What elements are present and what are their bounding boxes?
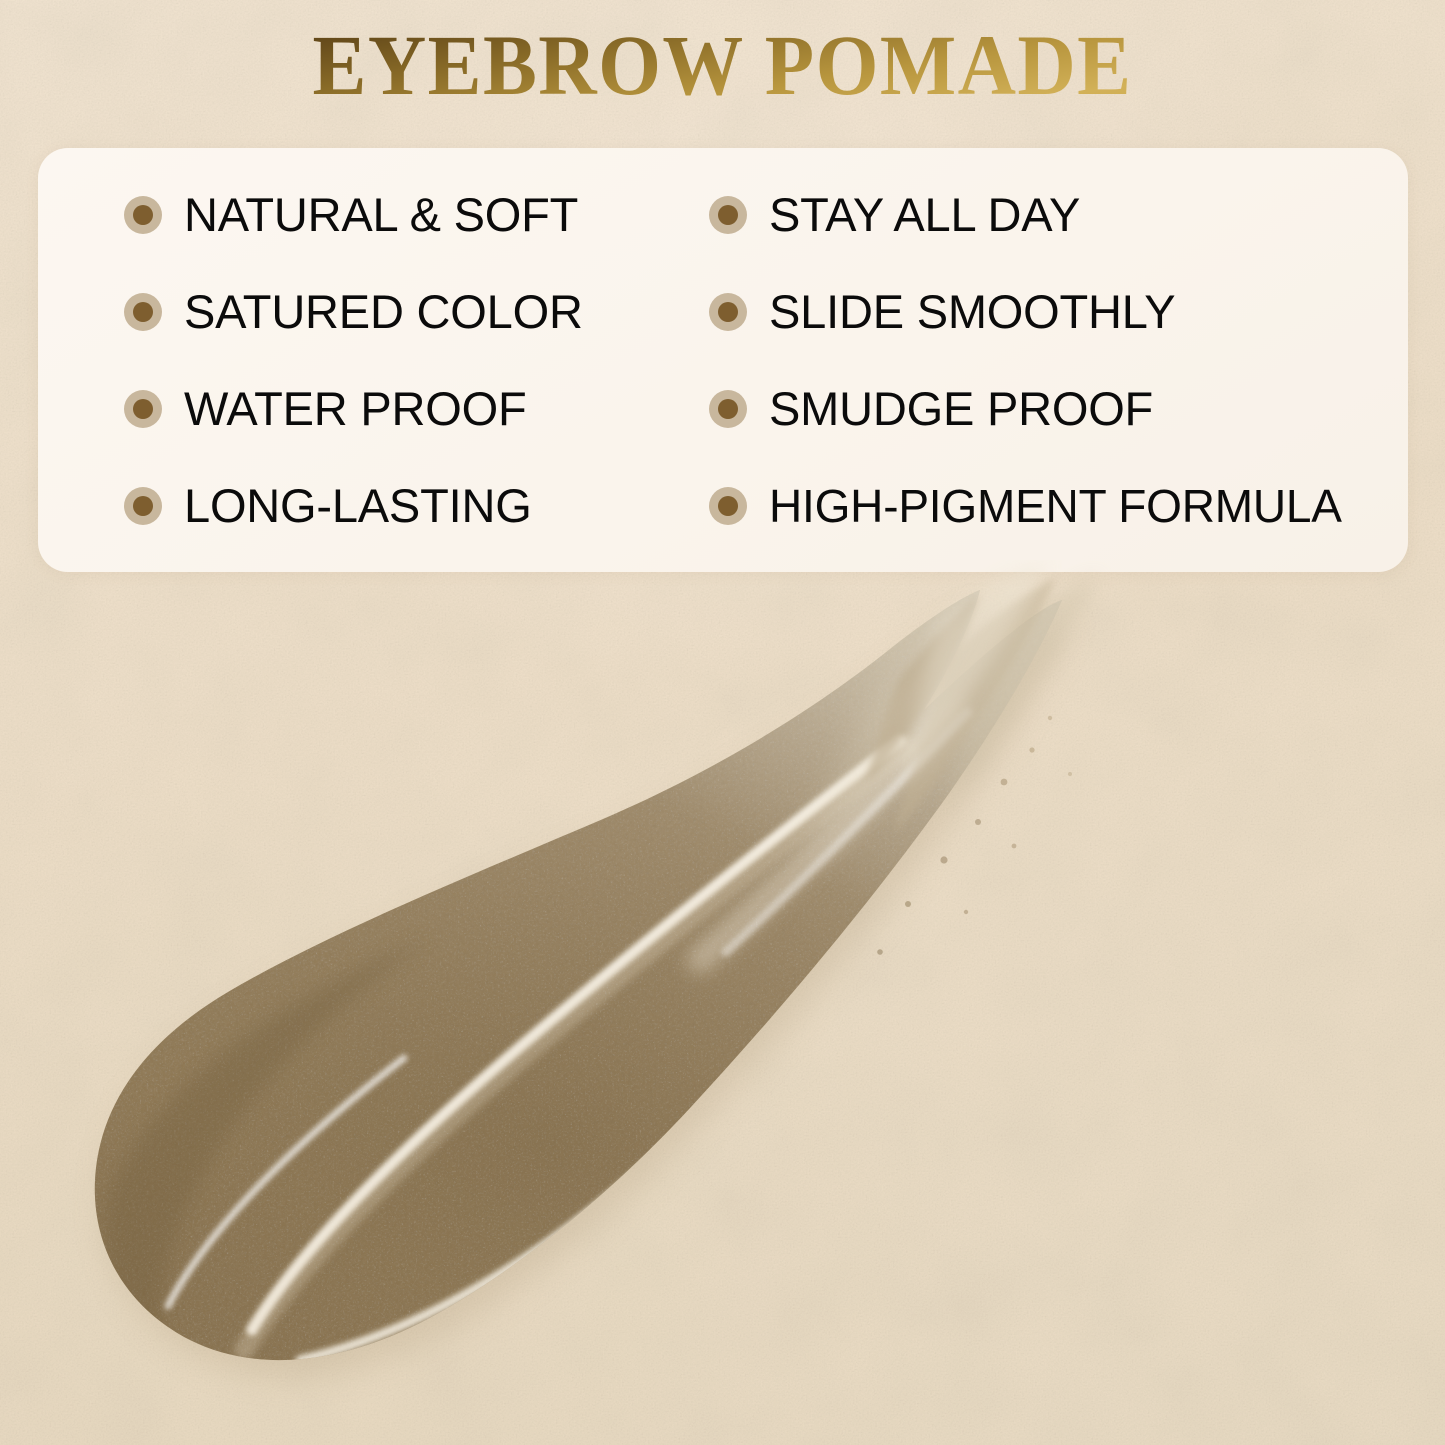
feature-item-natural-soft: NATURAL & SOFT: [124, 166, 709, 263]
feature-item-water-proof: WATER PROOF: [124, 360, 709, 457]
bullet-dot-icon: [124, 487, 162, 525]
page-title: EYEBROW POMADE: [43, 22, 1401, 108]
bullet-dot-icon: [709, 487, 747, 525]
eyebrow-pomade-smear-swatch: [0, 560, 1445, 1445]
features-grid: NATURAL & SOFT STAY ALL DAY SATURED COLO…: [38, 148, 1408, 572]
bullet-dot-icon: [124, 293, 162, 331]
feature-label: NATURAL & SOFT: [184, 191, 578, 238]
feature-label: HIGH-PIGMENT FORMULA: [769, 483, 1342, 529]
feature-item-high-pigment-formula: HIGH-PIGMENT FORMULA: [709, 457, 1408, 554]
feature-item-smudge-proof: SMUDGE PROOF: [709, 360, 1408, 457]
feature-item-slide-smoothly: SLIDE SMOOTHLY: [709, 263, 1408, 360]
feature-label: SATURED COLOR: [184, 288, 583, 335]
product-swatch-area: [0, 560, 1445, 1445]
features-card: NATURAL & SOFT STAY ALL DAY SATURED COLO…: [38, 148, 1408, 572]
bullet-dot-icon: [124, 390, 162, 428]
bullet-dot-icon: [709, 196, 747, 234]
feature-item-stay-all-day: STAY ALL DAY: [709, 166, 1408, 263]
bullet-dot-icon: [709, 293, 747, 331]
feature-label: SMUDGE PROOF: [769, 385, 1153, 432]
feature-label: STAY ALL DAY: [769, 191, 1080, 238]
feature-item-long-lasting: LONG-LASTING: [124, 457, 709, 554]
feature-item-satured-color: SATURED COLOR: [124, 263, 709, 360]
swatch-body: [0, 560, 1445, 1445]
feature-label: LONG-LASTING: [184, 482, 532, 529]
feature-label: WATER PROOF: [184, 385, 526, 432]
feature-label: SLIDE SMOOTHLY: [769, 288, 1175, 335]
bullet-dot-icon: [709, 390, 747, 428]
bullet-dot-icon: [124, 196, 162, 234]
